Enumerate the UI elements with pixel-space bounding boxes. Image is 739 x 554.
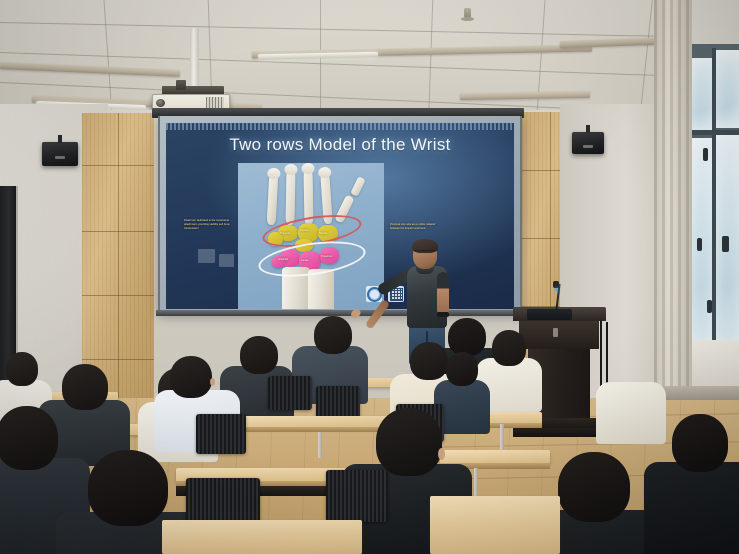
window-mullion-horizontal	[686, 130, 739, 135]
desk-foreground-right	[430, 496, 560, 554]
metacarpal-bone	[267, 173, 279, 225]
bone-label-capitate: Capitate	[300, 229, 309, 232]
window-latch-upper[interactable]	[703, 148, 708, 161]
projector-lens	[156, 99, 165, 107]
desk-foreground-left	[162, 520, 362, 554]
student-torso	[644, 462, 739, 554]
window-pane-upper-right	[716, 50, 739, 128]
window-pane-upper-left	[690, 58, 712, 132]
student-head	[376, 408, 442, 476]
slide-scanline-artifact	[166, 123, 514, 130]
student-head	[448, 318, 486, 356]
window-latch-lower[interactable]	[707, 300, 712, 313]
student-head	[6, 352, 38, 386]
presenter-glasses	[414, 250, 436, 256]
bone-label-scaphoid: Scaphoid	[278, 258, 288, 261]
student-head	[672, 414, 728, 472]
student-head	[88, 450, 168, 526]
microphone-capsule	[553, 281, 559, 288]
window-handle[interactable]	[722, 236, 729, 252]
projector-mount-pole	[190, 28, 199, 90]
window-curtain[interactable]	[654, 0, 692, 392]
desk-leg	[500, 424, 504, 452]
wall-speaker-left	[42, 142, 78, 166]
student-torso	[596, 382, 666, 444]
lecture-hall-photo: Two rows Model of the Wrist	[0, 0, 739, 554]
student-head	[240, 336, 278, 374]
slide-ghost-box-1	[198, 249, 215, 263]
chair-back-1[interactable]	[268, 376, 312, 410]
slide-ghost-box-2	[219, 254, 234, 267]
projection-screen-weight-bar	[156, 310, 520, 316]
bone-label-triquetrum: Triquetrum	[321, 255, 332, 258]
presentation-slide: Two rows Model of the Wrist	[166, 123, 514, 309]
wall-speaker-right	[572, 132, 604, 154]
slide-annotation-left: Distal row: dedicated to the metacarpal …	[184, 219, 238, 230]
window-latch-middle[interactable]	[697, 238, 702, 251]
slide-annotation-right: Proximal row: acts as a mobile 'adaptor'…	[390, 223, 440, 231]
presenter-wristwatch	[437, 312, 449, 317]
student-head	[410, 342, 448, 380]
student-head	[558, 452, 630, 522]
student-ear	[210, 378, 215, 386]
bone-label-hamate: Hamate	[319, 232, 327, 235]
baseboard-right	[654, 386, 739, 400]
student-head	[446, 352, 478, 386]
student-ear	[438, 448, 445, 460]
wrist-anatomy-illustration: Trapezoid Capitate Hamate Scaphoid Lunat…	[238, 163, 384, 309]
projection-screen: Two rows Model of the Wrist	[158, 116, 522, 314]
ceiling-light-fixture	[258, 52, 378, 60]
chair-front-2[interactable]	[326, 470, 388, 522]
chair-middle-1[interactable]	[196, 414, 246, 454]
thumb-phalanx	[350, 176, 366, 197]
lectern-plinth	[513, 428, 607, 437]
lectern-front-panel	[519, 321, 599, 349]
projector-bracket	[176, 80, 186, 90]
student-head	[62, 364, 108, 410]
window-mullion-vertical	[712, 48, 716, 350]
student-head	[314, 316, 352, 354]
student-head	[170, 356, 212, 398]
desk-edge	[236, 427, 396, 432]
metacarpal-bone	[286, 169, 296, 225]
bone-label-lunate: Lunate	[301, 259, 308, 262]
sprinkler-head	[464, 8, 471, 19]
desk-leg	[318, 432, 322, 458]
chair-back-3[interactable]	[316, 386, 360, 420]
lectern-emblem	[553, 328, 558, 337]
desk-row-front	[440, 450, 550, 464]
slide-title: Two rows Model of the Wrist	[166, 135, 514, 155]
microphone-power-led	[555, 288, 558, 291]
lectern-control-panel[interactable]	[527, 309, 572, 320]
presenter-right-arm	[437, 272, 449, 316]
student-head	[492, 330, 526, 366]
student-head	[0, 406, 58, 470]
bone-label-trapezoid: Trapezoid	[280, 232, 291, 235]
